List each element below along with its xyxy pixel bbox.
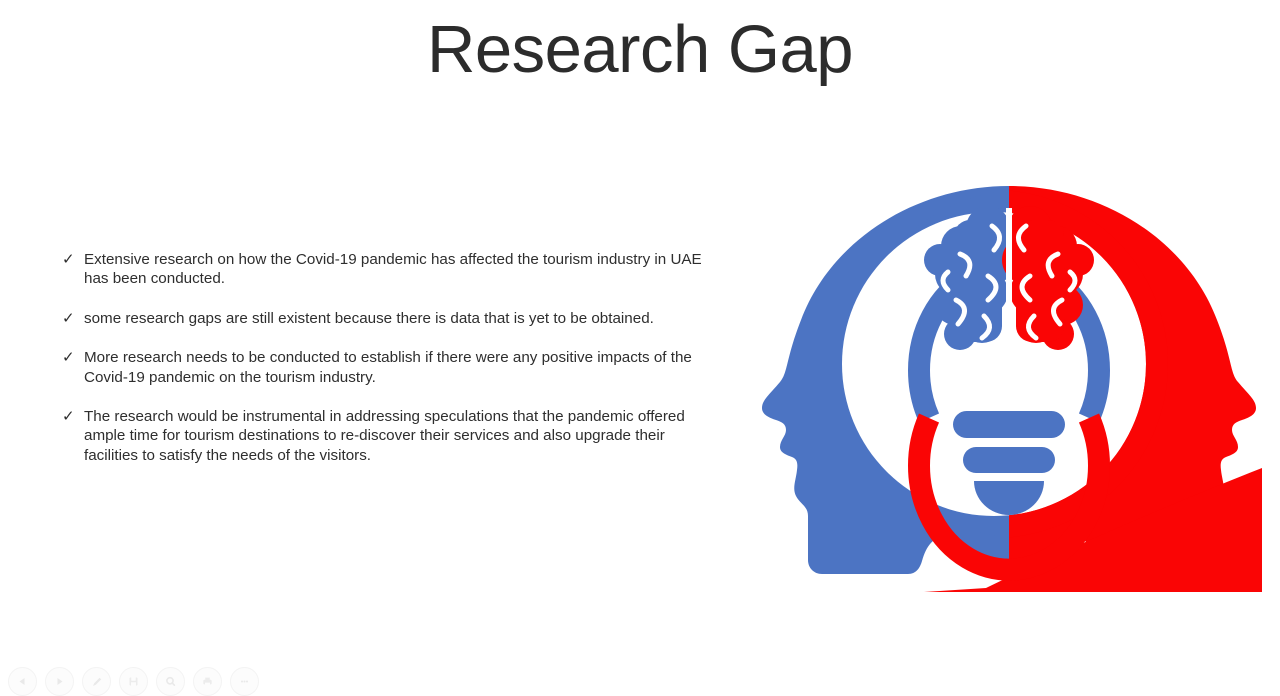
presentation-toolbar[interactable] xyxy=(0,667,308,691)
bullet-list: ✓ Extensive research on how the Covid-19… xyxy=(62,250,702,465)
list-item-text: The research would be instrumental in ad… xyxy=(84,407,702,465)
check-icon: ✓ xyxy=(62,309,84,328)
two-heads-lightbulb-brain-illustration xyxy=(756,168,1262,592)
list-item: ✓ The research would be instrumental in … xyxy=(62,407,702,465)
search-icon[interactable] xyxy=(156,667,185,696)
list-item: ✓ some research gaps are still existent … xyxy=(62,309,702,328)
list-item-text: Extensive research on how the Covid-19 p… xyxy=(84,250,702,289)
pen-icon[interactable] xyxy=(82,667,111,696)
check-icon: ✓ xyxy=(62,348,84,367)
save-icon[interactable] xyxy=(119,667,148,696)
list-item: ✓ Extensive research on how the Covid-19… xyxy=(62,250,702,289)
more-icon[interactable] xyxy=(230,667,259,696)
page-title: Research Gap xyxy=(0,8,1280,92)
previous-icon[interactable] xyxy=(8,667,37,696)
list-item-text: More research needs to be conducted to e… xyxy=(84,348,702,387)
check-icon: ✓ xyxy=(62,250,84,269)
list-item-text: some research gaps are still existent be… xyxy=(84,309,702,328)
check-icon: ✓ xyxy=(62,407,84,426)
list-item: ✓ More research needs to be conducted to… xyxy=(62,348,702,387)
play-icon[interactable] xyxy=(45,667,74,696)
print-icon[interactable] xyxy=(193,667,222,696)
